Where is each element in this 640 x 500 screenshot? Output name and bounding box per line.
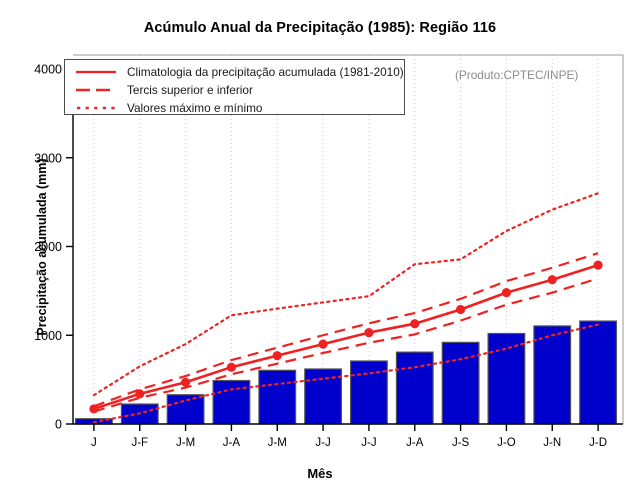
series-marker [364,328,373,337]
series-marker [410,319,419,328]
y-tick-label: 1000 [34,329,62,343]
bar [259,370,296,424]
bar [442,342,479,424]
chart-legend: Climatologia da precipitação acumulada (… [64,59,405,115]
y-tick-label: 2000 [34,240,62,254]
series-marker [273,351,282,360]
legend-item-terciles: Tercis superior e inferior [65,81,253,99]
legend-item-extremes: Valores máximo e mínimo [65,99,263,117]
x-tick-label: J-S [452,437,470,449]
series-marker [548,275,557,284]
bar [396,352,433,424]
y-tick-label: 0 [55,418,62,432]
y-tick-label: 4000 [34,63,62,77]
precipitation-chart: Acúmulo Anual da Precipitação (1985): Re… [0,0,640,500]
series-marker [593,261,602,270]
x-tick-label: J-M [268,437,287,449]
legend-label-extremes: Valores máximo e mínimo [127,101,263,115]
dashed-line-icon [74,83,118,97]
x-tick-label: J-J [361,437,376,449]
x-tick-label: J-D [589,437,607,449]
x-tick-label: J-J [315,437,330,449]
series-marker [227,363,236,372]
series-marker [318,340,327,349]
solid-line-icon [74,65,118,79]
series-marker [502,288,511,297]
bar [305,369,342,424]
legend-label-terciles: Tercis superior e inferior [127,83,253,97]
x-tick-label: J-F [131,437,148,449]
product-annotation: (Produto:CPTEC/INPE) [455,68,578,82]
x-tick-label: J-A [406,437,424,449]
series-marker [181,378,190,387]
y-tick-label: 3000 [34,151,62,165]
legend-label-climatology: Climatologia da precipitação acumulada (… [127,65,404,79]
dotted-line-icon [74,101,118,115]
x-tick-label: J [91,437,97,449]
x-tick-label: J-O [497,437,516,449]
bar [488,333,525,424]
x-tick-label: J-M [176,437,195,449]
bar [580,321,617,424]
x-tick-label: J-N [543,437,561,449]
bar [351,361,388,424]
bar [534,326,571,424]
x-tick-label: J-A [223,437,241,449]
legend-item-climatology: Climatologia da precipitação acumulada (… [65,63,404,81]
series-marker [456,305,465,314]
bar [167,395,204,424]
